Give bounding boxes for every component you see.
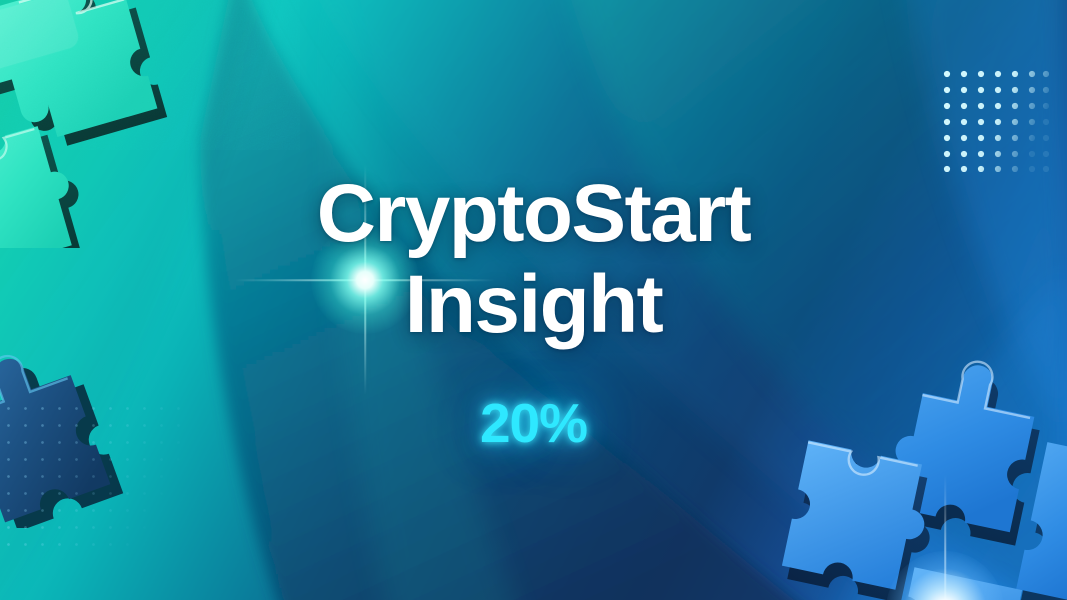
- page-title-line-2: Insight: [405, 262, 663, 349]
- banner-content: CryptoStart Insight 20%: [0, 0, 1067, 600]
- percent-badge: 20%: [480, 396, 587, 451]
- page-title-line-1: CryptoStart: [317, 171, 750, 258]
- promo-banner: CryptoStart Insight 20%: [0, 0, 1067, 600]
